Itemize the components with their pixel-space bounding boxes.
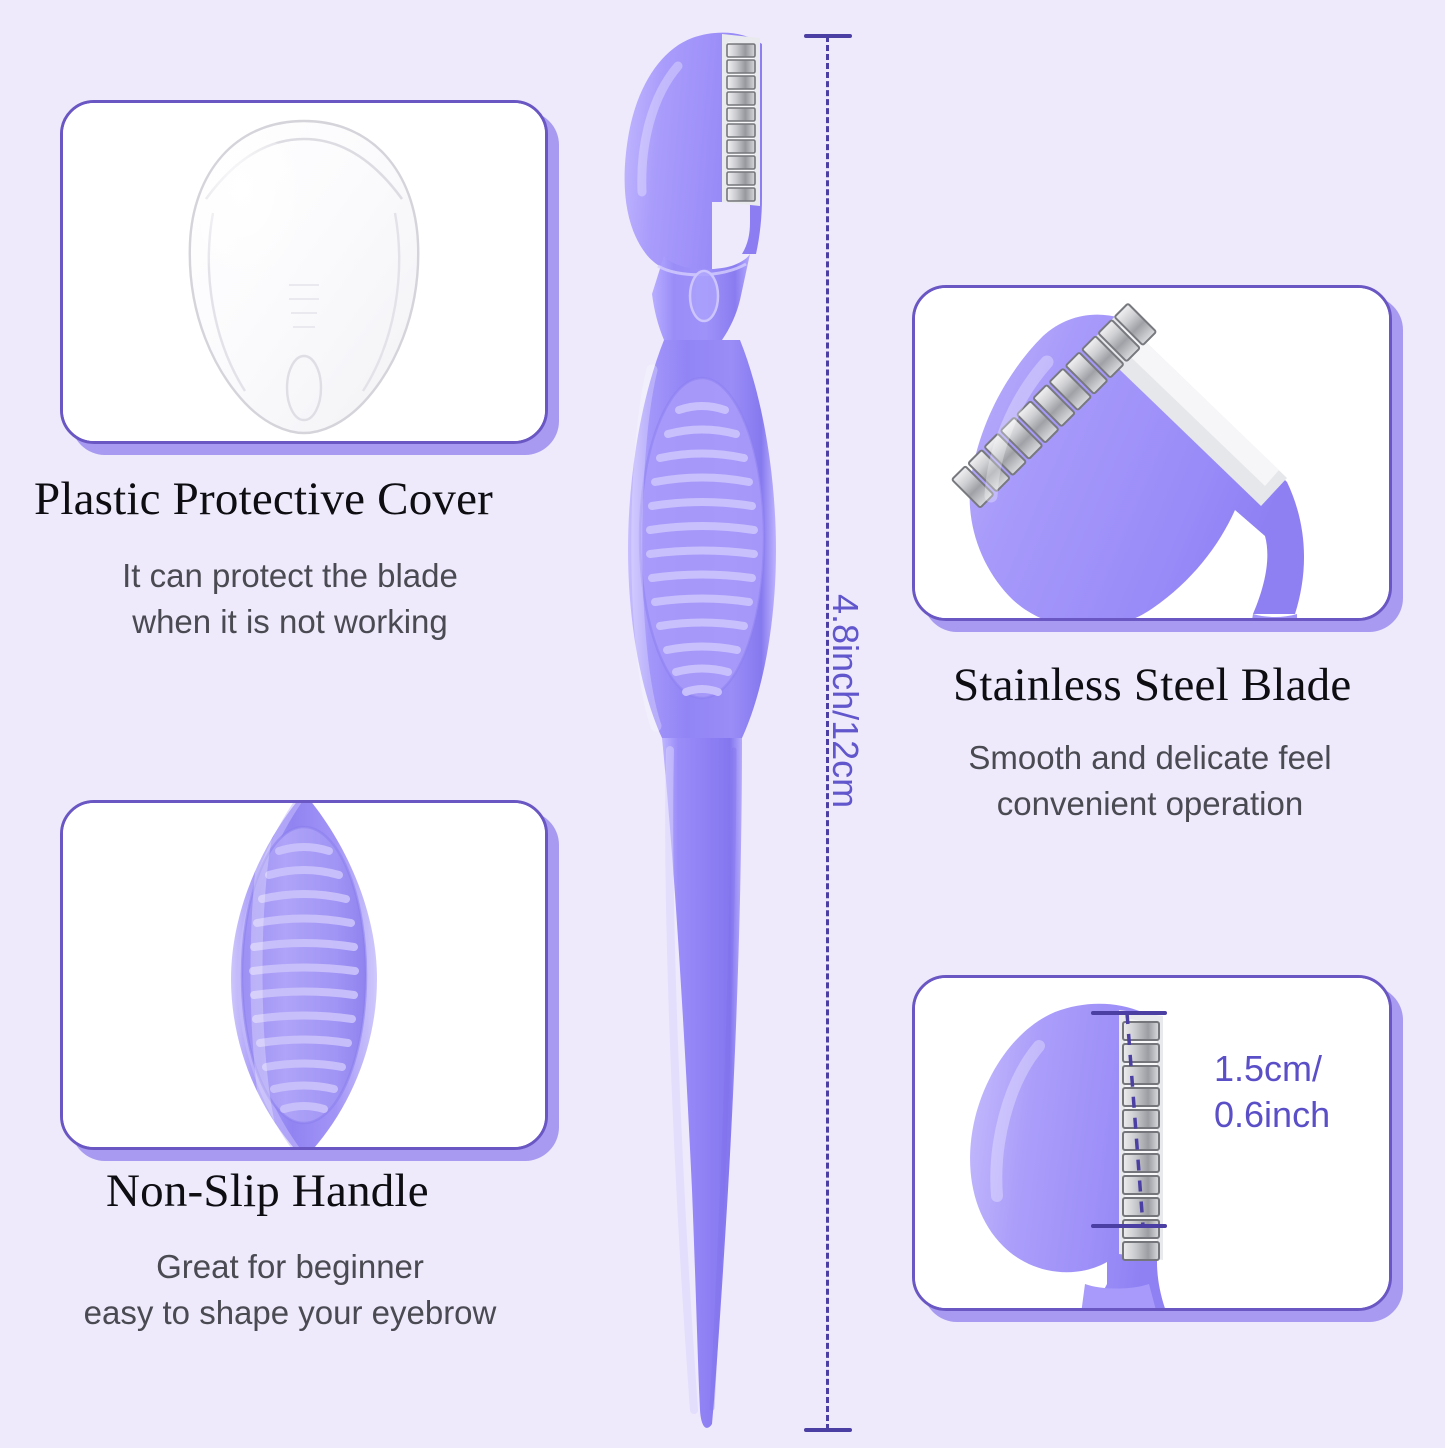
desc-line-2: when it is not working [36, 599, 544, 645]
feature-card-stainless-steel-blade [912, 285, 1392, 621]
desc-line-1: Smooth and delicate feel [916, 735, 1384, 781]
total-length-label: 4.8inch/12cm [824, 594, 866, 808]
blade-width-line-2: 0.6inch [1214, 1092, 1330, 1138]
feature-title-stainless-steel-blade: Stainless Steel Blade [953, 658, 1351, 712]
feature-card-plastic-protective-cover [60, 100, 548, 444]
eyebrow-razor-product [600, 10, 830, 1448]
blade-width-label: 1.5cm/ 0.6inch [1214, 1046, 1330, 1138]
feature-title-non-slip-handle: Non-Slip Handle [106, 1164, 429, 1218]
blade-width-photo [915, 978, 1389, 1308]
desc-line-1: Great for beginner [36, 1244, 544, 1290]
blade-width-line-1: 1.5cm/ [1214, 1046, 1330, 1092]
desc-line-2: convenient operation [916, 781, 1384, 827]
feature-card-non-slip-handle [60, 800, 548, 1150]
feature-desc-plastic-protective-cover: It can protect the blade when it is not … [36, 553, 544, 644]
plastic-cover-photo [63, 103, 545, 441]
blade-closeup-photo [915, 288, 1389, 618]
feature-desc-stainless-steel-blade: Smooth and delicate feel convenient oper… [916, 735, 1384, 826]
feature-card-blade-width-measure [912, 975, 1392, 1311]
infographic-canvas: Plastic Protective Cover It can protect … [0, 0, 1445, 1448]
desc-line-2: easy to shape your eyebrow [36, 1290, 544, 1336]
feature-desc-non-slip-handle: Great for beginner easy to shape your ey… [36, 1244, 544, 1335]
handle-grip-photo [63, 803, 545, 1147]
length-cap-bottom [804, 1428, 852, 1432]
feature-title-plastic-protective-cover: Plastic Protective Cover [34, 472, 493, 526]
desc-line-1: It can protect the blade [36, 553, 544, 599]
